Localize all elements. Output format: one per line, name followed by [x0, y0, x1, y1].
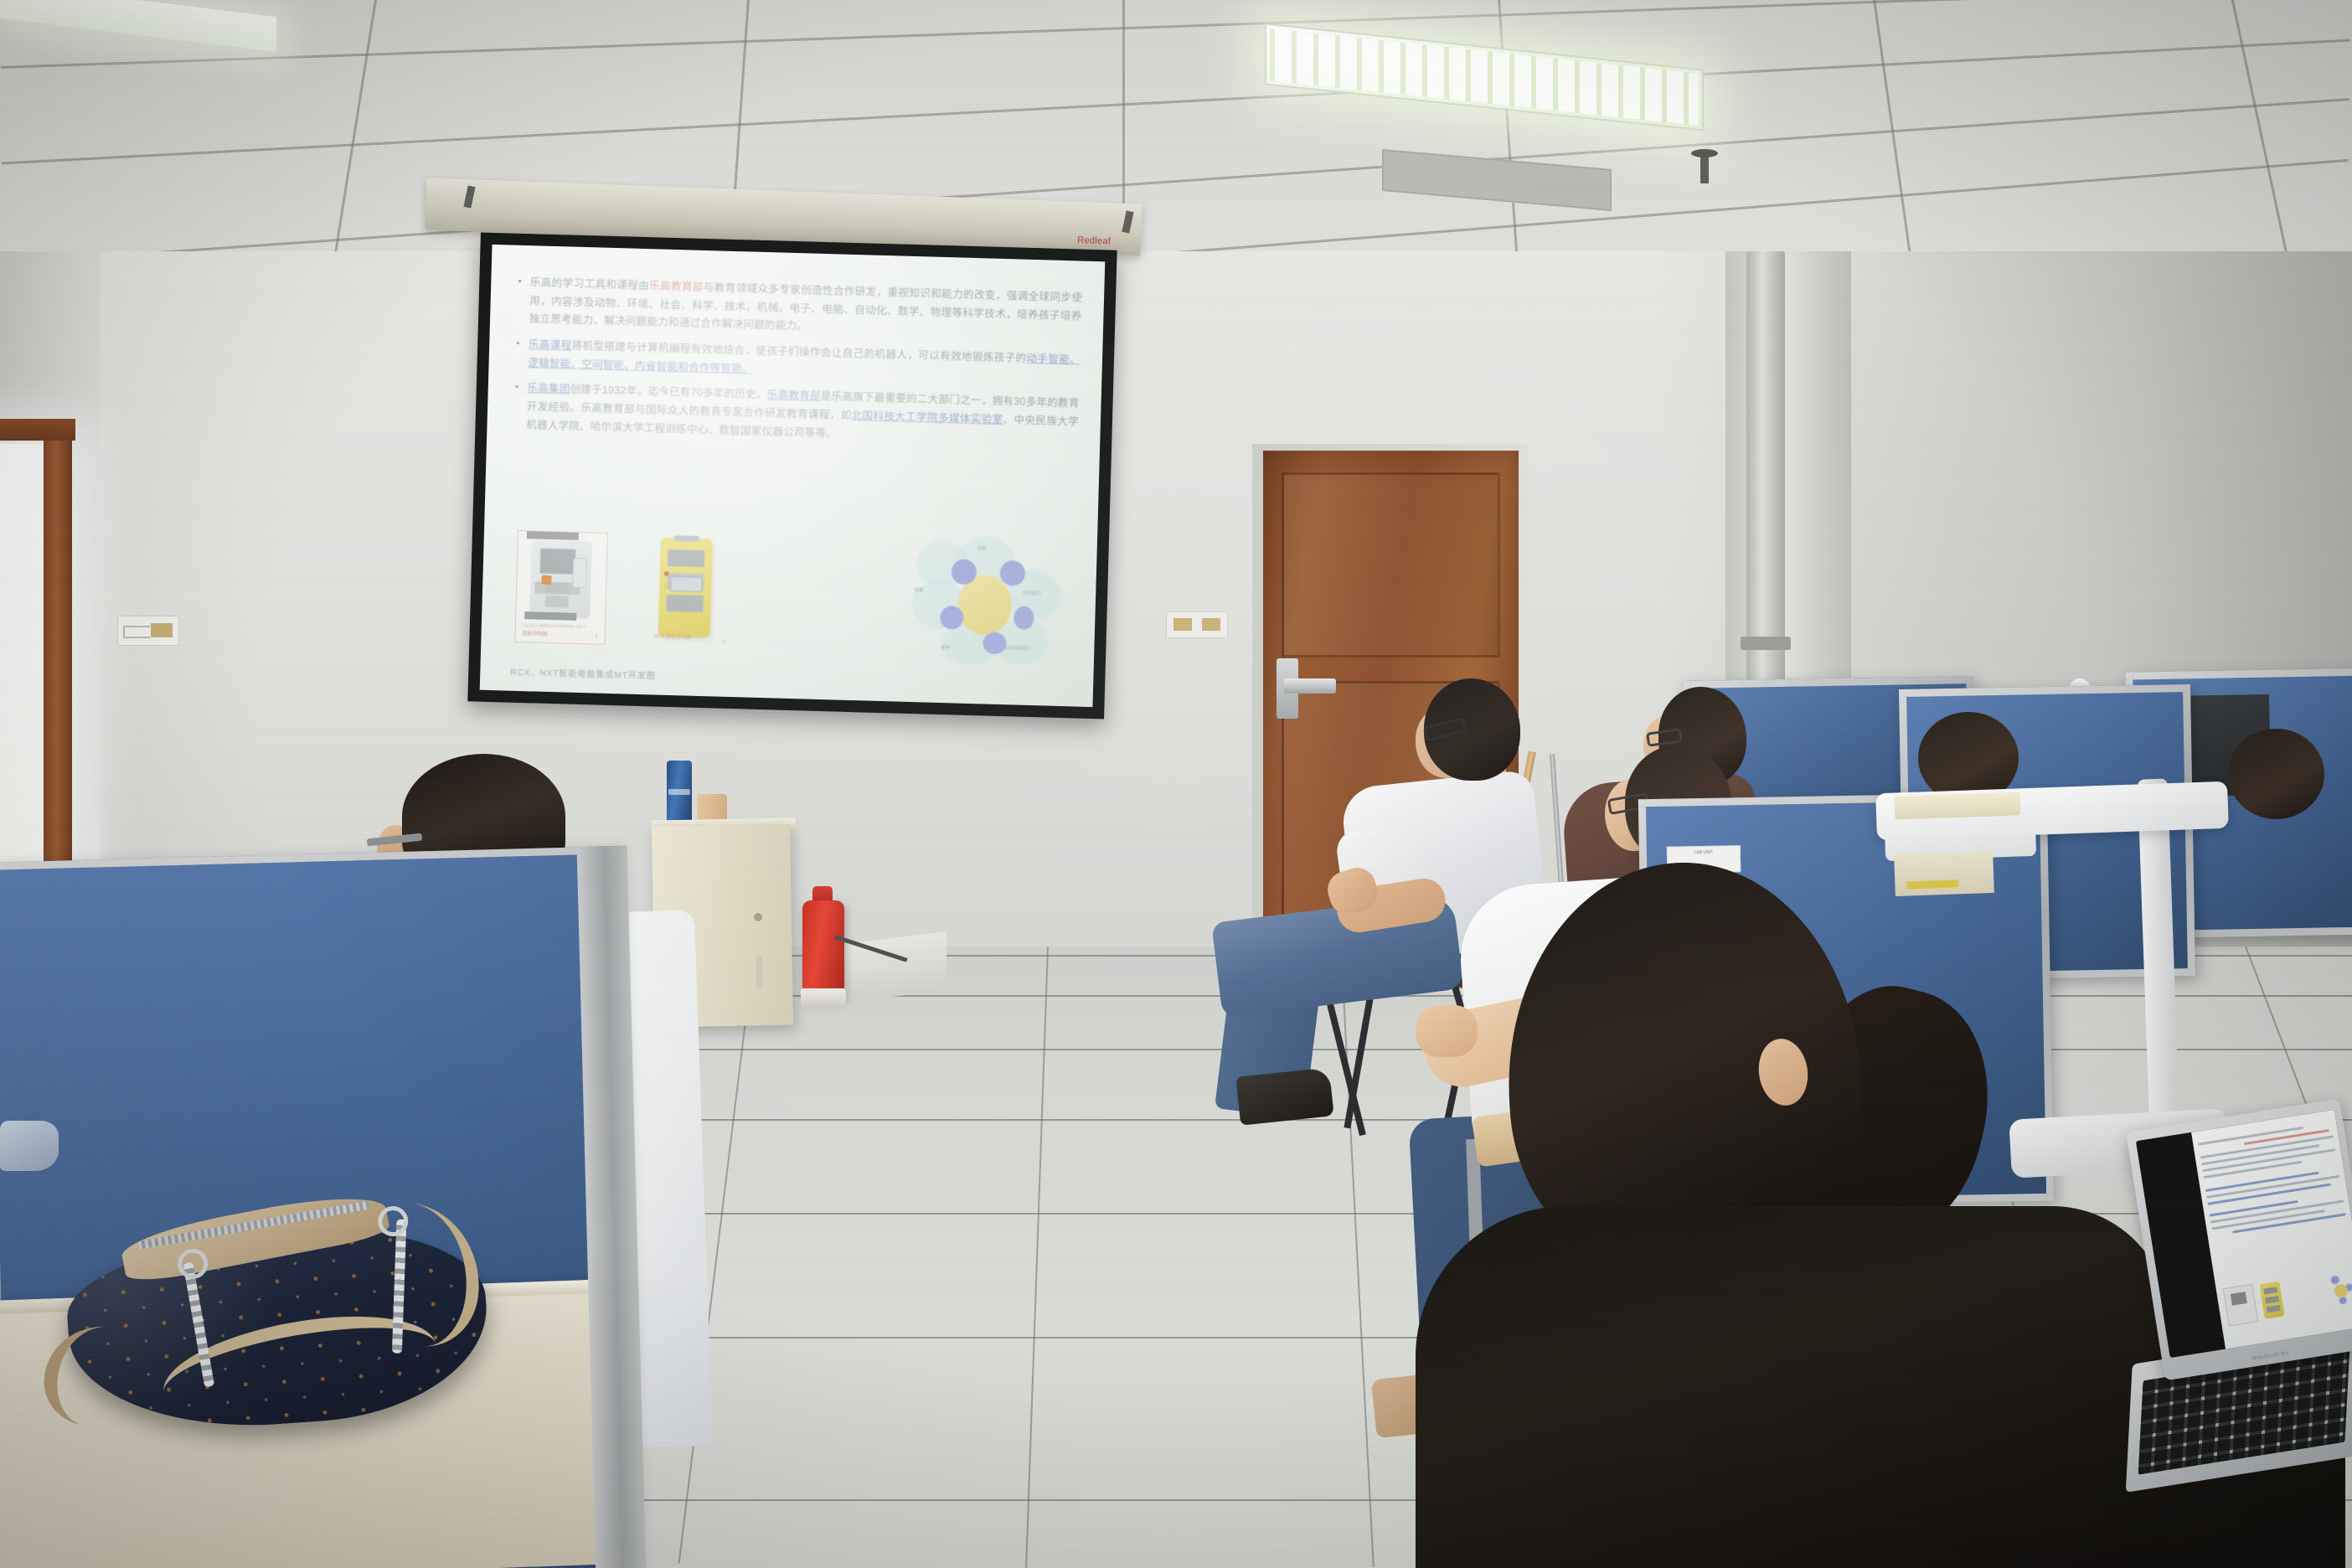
- blue-thermos[interactable]: [667, 761, 692, 829]
- extinguisher-base: [801, 988, 846, 1007]
- plastic-bag[interactable]: [0, 1121, 59, 1171]
- laptop[interactable]: MacBook Air: [2128, 1114, 2352, 1466]
- laptop-brand-label: MacBook Air: [2251, 1350, 2289, 1362]
- laptop-screen[interactable]: [2136, 1110, 2352, 1358]
- person-cubicle-2-hair: [2228, 729, 2324, 819]
- door-handle[interactable]: [1284, 678, 1336, 694]
- classroom-photo: Redleaf • 乐高的学习工具和课程由乐高教育部与教育领域众多专家创造性合作…: [0, 0, 2352, 1568]
- handbag-side-strap: [345, 1199, 484, 1349]
- nxt-number: 1: [595, 633, 598, 638]
- equipment-sub-unit: [1894, 851, 1994, 896]
- nxt-caption-cn: 智能控制器: [523, 629, 548, 637]
- rcx-number: 2: [722, 640, 725, 645]
- laptop-slide-content: [2191, 1110, 2352, 1349]
- diagram-outer-label: 解决问题能力: [1003, 644, 1030, 652]
- laptop-slide-flower-diagram: [2318, 1269, 2352, 1313]
- handbag-handle[interactable]: [39, 1321, 155, 1432]
- projector-screen: • 乐高的学习工具和课程由乐高教育部与教育领域众多专家创造性合作研发，重视知识和…: [467, 232, 1117, 719]
- slide-footer-caption: RCX、NXT智能电脑集成MT开发图: [510, 665, 656, 682]
- person-foreground-top: [1416, 1206, 2169, 1568]
- bullet-marker: •: [517, 274, 522, 328]
- window-frame-top: [0, 419, 75, 441]
- person-center-shoe: [1235, 1067, 1333, 1125]
- person-white-top-hand: [1416, 1005, 1478, 1057]
- handbag[interactable]: [8, 1155, 545, 1458]
- projected-slide: • 乐高的学习工具和课程由乐高教育部与教育领域众多专家创造性合作研发，重视知识和…: [480, 245, 1106, 707]
- fire-extinguisher[interactable]: [802, 900, 844, 1001]
- diagram-outer-label: 创新: [977, 544, 987, 551]
- cabinet-handle[interactable]: [756, 955, 762, 988]
- pipe-band: [1741, 637, 1791, 650]
- bullet-marker: •: [515, 336, 520, 372]
- bullet-text: 乐高课程将机型搭建与计算机编程有效地结合，使孩子们操作会让自己的机器人，可以有效…: [528, 336, 1081, 388]
- lego-nxt-brick-image: LEGO MINDSTORMS NXT 智能控制器 1: [514, 530, 608, 645]
- cabinet-knob[interactable]: [754, 913, 762, 921]
- ceiling: [0, 0, 2352, 276]
- slide-bullet: • 乐高课程将机型搭建与计算机编程有效地结合，使孩子们操作会让自己的机器人，可以…: [515, 336, 1081, 388]
- laptop-slide-rcx-image: [2260, 1282, 2285, 1319]
- rcx-caption: RCX 智能控制器: [653, 632, 691, 640]
- equipment-pad: [1895, 792, 2021, 819]
- slide-image-row: LEGO MINDSTORMS NXT 智能控制器 1 RCX 智能控制器 2: [509, 529, 1077, 670]
- wall-outlet-center[interactable]: [1166, 611, 1228, 638]
- diagram-outer-label: 探索: [914, 586, 923, 593]
- lego-rcx-brick-image: [658, 538, 713, 638]
- wall-outlet-left[interactable]: [117, 616, 179, 646]
- slide-bullet: • 乐高集团创建于1932年，迄今已有70多年的历史。乐高教育部是乐高旗下最重要…: [513, 379, 1080, 450]
- competency-flower-diagram: 创新 协作能力 解决问题能力 思考 探索: [910, 534, 1060, 666]
- nxt-enter-button: [541, 575, 551, 585]
- diagram-outer-label: 思考: [941, 644, 950, 651]
- slide-body: • 乐高的学习工具和课程由乐高教育部与教育领域众多专家创造性合作研发，重视知识和…: [513, 274, 1082, 457]
- ceiling-hook: [1700, 155, 1709, 183]
- diagram-outer-label: 协作能力: [1023, 590, 1041, 597]
- wall-pipe: [1746, 251, 1785, 720]
- bullet-text: 乐高集团创建于1932年，迄今已有70多年的历史。乐高教育部是乐高旗下最重要的二…: [526, 379, 1080, 449]
- screen-brand-label: Redleaf: [1077, 235, 1111, 246]
- bullet-text: 乐高的学习工具和课程由乐高教育部与教育领域众多专家创造性合作研发，重视知识和能力…: [529, 274, 1082, 343]
- laptop-lid: MacBook Air: [2126, 1099, 2352, 1381]
- slide-bullet: • 乐高的学习工具和课程由乐高教育部与教育领域众多专家创造性合作研发，重视知识和…: [517, 274, 1083, 344]
- bullet-marker: •: [513, 379, 518, 434]
- laptop-slide-nxt-image: [2223, 1284, 2259, 1327]
